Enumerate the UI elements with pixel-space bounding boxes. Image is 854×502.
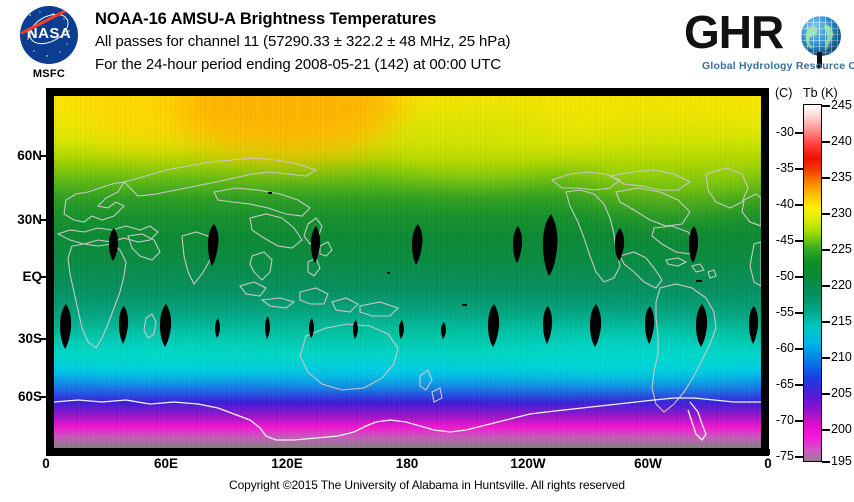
x-axis-label-0e: 0	[26, 456, 66, 471]
x-axis-label-60w: 60W	[628, 456, 668, 471]
x-axis-label-60e: 60E	[146, 456, 186, 471]
y-axis-label-60s: 60S	[0, 389, 42, 404]
colorbar-label-k195: 195	[831, 454, 852, 468]
colorbar-tick-c-30	[795, 132, 803, 134]
y-axis-tick-30n	[40, 219, 46, 221]
colorbar-tick-c-55	[795, 312, 803, 314]
colorbar-label-c-50: -50	[775, 269, 794, 283]
colorbar-header-celsius: (C)	[775, 86, 792, 100]
nasa-center-label: MSFC	[12, 68, 86, 80]
colorbar-label-k205: 205	[831, 386, 852, 400]
colorbar-tick-k245	[822, 105, 830, 107]
globe-icon	[801, 16, 841, 56]
y-axis-tick-eq	[40, 276, 46, 278]
y-axis-tick-30s	[40, 338, 46, 340]
colorbar-label-k210: 210	[831, 350, 852, 364]
x-axis-label-120w: 120W	[504, 456, 552, 471]
colorbar-label-k240: 240	[831, 134, 852, 148]
ghrc-logo: GHR Global Hydrology Resource Center	[684, 8, 850, 82]
nasa-logo: NASA MSFC	[12, 6, 86, 84]
colorbar-label-c-55: -55	[775, 305, 794, 319]
y-axis-label-60n: 60N	[0, 148, 42, 163]
page-title: NOAA-16 AMSU-A Brightness Temperatures	[95, 8, 675, 30]
colorbar-tick-k220	[822, 285, 830, 287]
x-axis-label-180: 180	[387, 456, 427, 471]
colorbar-tick-k235	[822, 177, 830, 179]
globe-shading	[801, 16, 841, 56]
colorbar-label-c-45: -45	[775, 233, 794, 247]
chart-title-block: NOAA-16 AMSU-A Brightness Temperatures A…	[95, 8, 675, 76]
colorbar-tick-k210	[822, 357, 830, 359]
colorbar-tick-k215	[822, 321, 830, 323]
colorbar-label-k200: 200	[831, 422, 852, 436]
x-axis-tick-180	[407, 449, 409, 455]
gap-row-north	[109, 224, 698, 266]
y-axis-tick-60s	[40, 396, 46, 398]
colorbar-label-c-30: -30	[775, 125, 794, 139]
x-axis-tick-60w	[648, 449, 650, 455]
colorbar-tick-c-35	[795, 168, 803, 170]
visualization-page: NASA MSFC NOAA-16 AMSU-A Brightness Temp…	[0, 0, 854, 502]
gap-row-central	[543, 214, 557, 276]
colorbar-label-k245: 245	[831, 98, 852, 112]
brightness-temperature-heatmap	[54, 96, 761, 448]
colorbar-tick-c-65	[795, 384, 803, 386]
x-axis-tick-120e	[287, 449, 289, 455]
title-subline-channel: All passes for channel 11 (57290.33 ± 32…	[95, 30, 675, 53]
colorbar-tick-c-45	[795, 240, 803, 242]
colorbar-tick-k200	[822, 429, 830, 431]
gap-row-south	[60, 304, 758, 349]
colorbar-tick-c-60	[795, 348, 803, 350]
map-frame	[46, 88, 769, 456]
colorbar-tick-c-75	[795, 456, 803, 458]
colorbar-tick-k230	[822, 213, 830, 215]
x-axis-tick-360e	[768, 449, 770, 455]
colorbar-label-k235: 235	[831, 170, 852, 184]
missing-data-gaps	[54, 96, 761, 448]
colorbar-label-c-35: -35	[775, 161, 794, 175]
y-axis-label-30s: 30S	[0, 331, 42, 346]
colorbar-label-c-60: -60	[775, 341, 794, 355]
colorbar-tick-k195	[822, 461, 830, 463]
colorbar-tick-k205	[822, 393, 830, 395]
gap-specks	[268, 192, 702, 306]
nasa-insignia-icon: NASA	[20, 6, 78, 64]
ghrc-wordmark: GHR	[684, 8, 783, 56]
colorbar-gradient	[803, 104, 822, 462]
colorbar-label-c-70: -70	[775, 413, 794, 427]
colorbar-tick-k225	[822, 249, 830, 251]
colorbar-label-k230: 230	[831, 206, 852, 220]
x-axis-tick-60e	[166, 449, 168, 455]
colorbar-label-c-75: -75	[775, 449, 794, 463]
ghrc-tagline: Global Hydrology Resource Center	[702, 60, 854, 72]
colorbar-tick-c-50	[795, 276, 803, 278]
y-axis-label-30n: 30N	[0, 212, 42, 227]
colorbar-tick-k240	[822, 141, 830, 143]
colorbar: (C) Tb (K) -30 -35 -40 -45 -50 -55 -60 -…	[775, 86, 854, 466]
colorbar-label-k225: 225	[831, 242, 852, 256]
colorbar-label-c-65: -65	[775, 377, 794, 391]
colorbar-label-c-40: -40	[775, 197, 794, 211]
y-axis-label-eq: EQ	[0, 269, 42, 284]
colorbar-tick-c-70	[795, 420, 803, 422]
x-axis-tick-0e	[46, 449, 48, 455]
colorbar-label-k215: 215	[831, 314, 852, 328]
copyright-notice: Copyright ©2015 The University of Alabam…	[0, 478, 854, 492]
title-subline-period: For the 24-hour period ending 2008-05-21…	[95, 53, 675, 76]
x-axis-tick-120w	[528, 449, 530, 455]
colorbar-label-k220: 220	[831, 278, 852, 292]
colorbar-tick-c-40	[795, 204, 803, 206]
x-axis-label-120e: 120E	[263, 456, 311, 471]
y-axis-tick-60n	[40, 155, 46, 157]
